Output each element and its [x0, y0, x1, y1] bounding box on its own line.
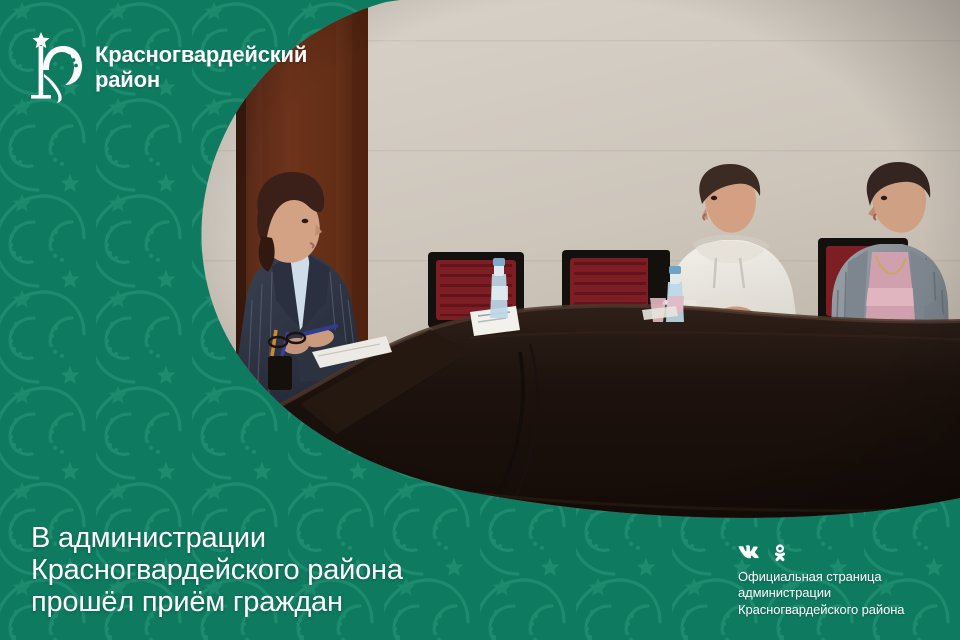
stylized-letter-k-with-star-icon — [22, 30, 84, 104]
logo-wordmark: Красногвардейский район — [95, 42, 307, 92]
social-caption-text: Официальная страница администрации Красн… — [738, 569, 943, 619]
social-media-card: Красногвардейский район В администрации … — [0, 0, 960, 640]
social-icon-row — [738, 543, 943, 563]
odnoklassniki-icon[interactable] — [773, 544, 787, 562]
social-block: Официальная страница администрации Красн… — [738, 543, 943, 619]
district-logo[interactable]: Красногвардейский район — [22, 30, 307, 104]
vk-icon[interactable] — [738, 545, 764, 561]
headline-text: В администрации Красногвардейского район… — [31, 522, 403, 618]
